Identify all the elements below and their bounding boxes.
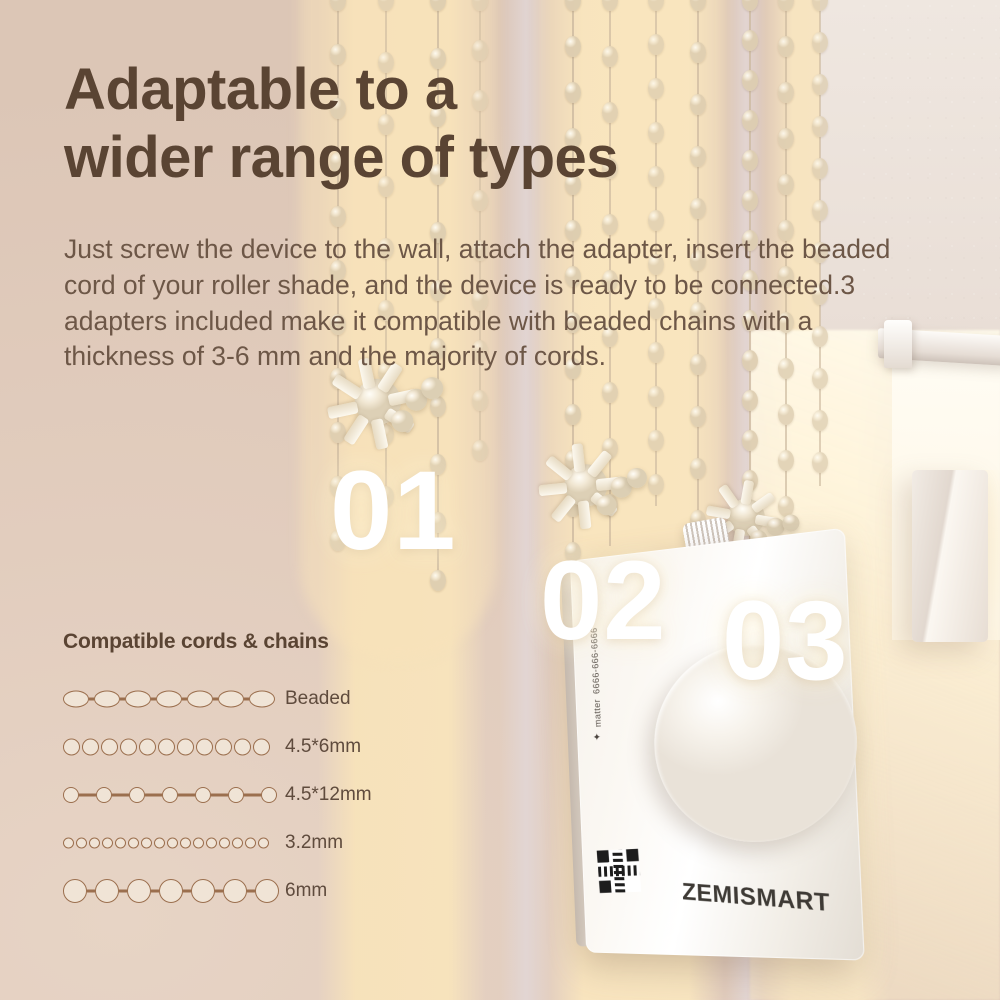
compatibility-title: Compatible cords & chains	[63, 630, 423, 654]
chain-bead	[742, 390, 758, 411]
chain-bead	[742, 110, 758, 131]
chain-link	[177, 738, 194, 755]
wall-sconce	[912, 470, 988, 642]
adapter-vane	[571, 444, 585, 473]
compatibility-label: 3.2mm	[285, 832, 343, 854]
chain-bead	[648, 386, 664, 407]
chain-bead	[430, 0, 446, 11]
chain-link	[232, 837, 243, 848]
chain-link-bar	[112, 793, 129, 796]
chain-link-bar	[247, 889, 255, 892]
chain-bead	[565, 404, 581, 425]
chain-bead	[690, 406, 706, 427]
chain-bead	[648, 430, 664, 451]
chain-link	[261, 787, 277, 803]
chain-bead	[330, 206, 346, 227]
chain-bead	[648, 34, 664, 55]
chain-diagram	[63, 876, 285, 906]
chain-bead	[472, 0, 488, 11]
compatibility-label: 4.5*6mm	[285, 736, 361, 758]
certification-text: matter	[592, 699, 603, 728]
chain-link-bar	[119, 889, 127, 892]
compatibility-label: Beaded	[285, 688, 351, 710]
compatibility-row: Beaded	[63, 678, 423, 719]
chain-link	[258, 837, 269, 848]
chain-link	[158, 738, 175, 755]
chain-link	[63, 879, 87, 903]
adapter-vane	[343, 414, 369, 446]
compatibility-row: 3.2mm	[63, 822, 423, 863]
chain-link-bar	[244, 793, 261, 796]
chain-bead	[812, 158, 828, 179]
chain-link	[120, 738, 137, 755]
chain-bead	[812, 116, 828, 137]
chain-bead	[812, 410, 828, 431]
chain-link	[129, 787, 145, 803]
chain-bead	[472, 190, 488, 211]
adapter-vane	[331, 374, 363, 400]
chain-link	[193, 837, 204, 848]
chain-link	[63, 837, 74, 848]
chain-link	[96, 787, 112, 803]
chain-link-bar	[145, 793, 162, 796]
chain-bead	[812, 452, 828, 473]
chain-bead	[742, 150, 758, 171]
chain-link	[253, 738, 270, 755]
chain-link-bar	[79, 793, 96, 796]
chain-bead	[812, 0, 828, 11]
chain-link	[115, 837, 126, 848]
chain-link	[218, 690, 244, 707]
chain-link	[95, 879, 119, 903]
chain-bead	[565, 0, 581, 11]
chain-link	[156, 690, 182, 707]
chain-link	[223, 879, 247, 903]
adapter-vane	[717, 484, 739, 509]
chain-bead	[690, 198, 706, 219]
chain-link	[76, 837, 87, 848]
chain-link-bar	[183, 889, 191, 892]
page-title: Adaptable to a wider range of types	[64, 56, 744, 193]
chain-link	[63, 738, 80, 755]
compatibility-section: Compatible cords & chains Beaded4.5*6mm4…	[63, 630, 423, 918]
adapter-vane	[550, 495, 576, 523]
chain-bead	[778, 174, 794, 195]
compatibility-row: 4.5*12mm	[63, 774, 423, 815]
chain-diagram	[63, 684, 285, 714]
chain-bead	[330, 0, 346, 11]
chain-link	[94, 690, 120, 707]
chain-bead	[778, 0, 794, 11]
brand-logo: ZEMISMART	[681, 877, 830, 917]
headline-line-1: Adaptable to a	[64, 56, 744, 124]
chain-link-bar	[215, 889, 223, 892]
chain-bead	[812, 32, 828, 53]
compatibility-row: 4.5*6mm	[63, 726, 423, 767]
chain-link	[195, 787, 211, 803]
chain-bead	[648, 0, 664, 11]
chain-link	[154, 837, 165, 848]
chain-link	[228, 787, 244, 803]
chain-link	[234, 738, 251, 755]
chain-link	[180, 837, 191, 848]
chain-link	[102, 837, 113, 848]
chain-bead	[648, 210, 664, 231]
chain-link	[187, 690, 213, 707]
chain-bead	[778, 36, 794, 57]
chain-link	[127, 879, 151, 903]
chain-bead	[742, 0, 758, 11]
chain-diagram	[63, 780, 285, 810]
chain-bead	[602, 0, 618, 11]
chain-link	[167, 837, 178, 848]
chain-bead	[778, 450, 794, 471]
compatibility-rows: Beaded4.5*6mm4.5*12mm3.2mm6mm	[63, 678, 423, 911]
step-number-03: 03	[722, 585, 849, 697]
chain-bead	[690, 458, 706, 479]
chain-link	[89, 837, 100, 848]
chain-bead	[812, 200, 828, 221]
chain-bead	[472, 440, 488, 461]
chain-link	[255, 879, 279, 903]
chain-link	[63, 787, 79, 803]
chain-diagram	[63, 732, 285, 762]
chain-link	[159, 879, 183, 903]
chain-link	[191, 879, 215, 903]
chain-link	[101, 738, 118, 755]
chain-link	[141, 837, 152, 848]
chain-bead	[430, 570, 446, 591]
chain-bead	[742, 190, 758, 211]
chain-link	[206, 837, 217, 848]
chain-bead	[602, 382, 618, 403]
adapter-vane	[327, 401, 359, 419]
adapter-bead	[595, 494, 617, 516]
chain-link	[249, 690, 275, 707]
chain-link-bar	[87, 889, 95, 892]
chain-bead	[778, 82, 794, 103]
compatibility-label: 6mm	[285, 880, 327, 902]
adapter-vane	[539, 483, 568, 497]
chain-bead	[742, 30, 758, 51]
chain-link	[128, 837, 139, 848]
chain-bead	[742, 430, 758, 451]
headline-line-2: wider range of types	[64, 124, 744, 192]
chain-link-bar	[211, 793, 228, 796]
qr-code-icon	[597, 849, 642, 893]
chain-bead	[778, 128, 794, 149]
chain-bead	[472, 390, 488, 411]
chain-diagram	[63, 828, 285, 858]
chain-adapter	[529, 435, 649, 547]
chain-bead	[648, 474, 664, 495]
chain-link	[245, 837, 256, 848]
chain-link	[215, 738, 232, 755]
compatibility-row: 6mm	[63, 870, 423, 911]
matter-star-icon: ✦	[592, 732, 603, 741]
chain-bead	[742, 70, 758, 91]
chain-bead	[812, 74, 828, 95]
chain-link	[82, 738, 99, 755]
compatibility-label: 4.5*12mm	[285, 784, 372, 806]
chain-link	[63, 690, 89, 707]
chain-link	[125, 690, 151, 707]
chain-link	[139, 738, 156, 755]
chain-link	[162, 787, 178, 803]
step-number-01: 01	[330, 455, 457, 567]
chain-bead	[565, 36, 581, 57]
body-copy: Just screw the device to the wall, attac…	[64, 232, 920, 375]
chain-bead	[778, 404, 794, 425]
chain-link-bar	[151, 889, 159, 892]
adapter-vane	[545, 456, 573, 482]
step-number-02: 02	[540, 545, 667, 657]
chain-link	[219, 837, 230, 848]
chain-link-bar	[178, 793, 195, 796]
product-banner: ✦ matter 6666-666-6666 ZEMISMART 01 02 0…	[0, 0, 1000, 1000]
chain-bead	[378, 0, 394, 11]
chain-link	[196, 738, 213, 755]
chain-bead	[690, 0, 706, 11]
